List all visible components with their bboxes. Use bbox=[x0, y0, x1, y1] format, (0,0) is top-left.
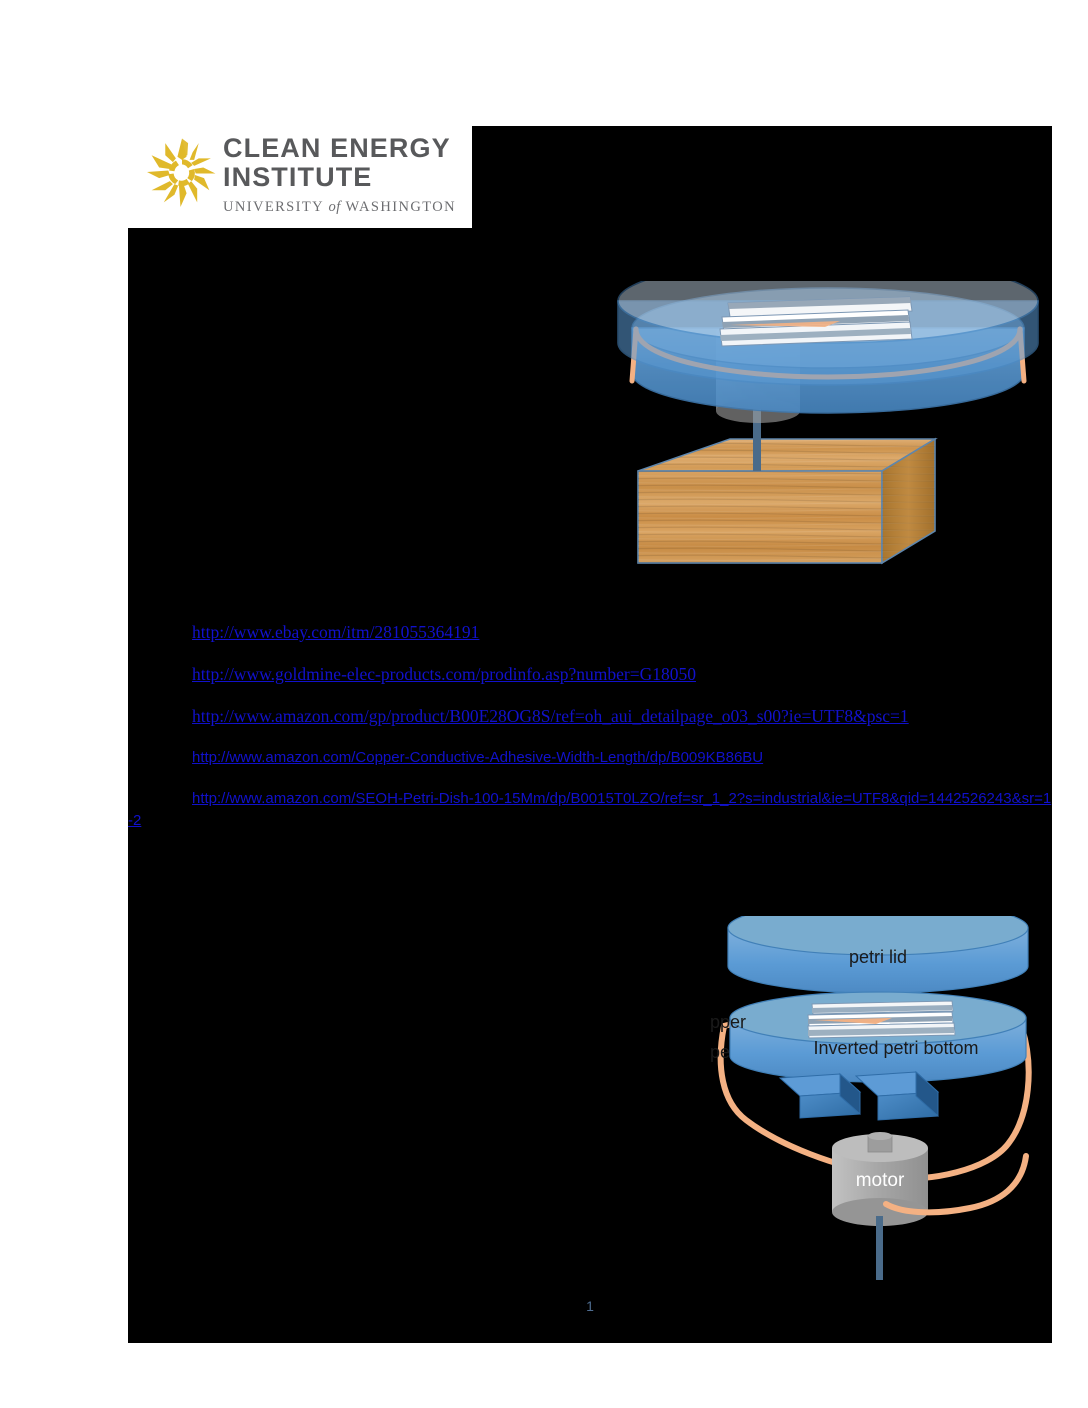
label-motor: motor bbox=[856, 1170, 905, 1191]
clean-energy-institute-logo: CLEAN ENERGY INSTITUTE UNIVERSITY of WAS… bbox=[128, 126, 472, 228]
label-inverted-petri-bottom: Inverted petri bottom bbox=[813, 1038, 978, 1058]
motor-lead-shaft bbox=[876, 1216, 883, 1280]
link-row: http://www.amazon.com/Copper-Conductive-… bbox=[128, 747, 1052, 769]
reference-link-list: http://www.ebay.com/itm/281055364191 htt… bbox=[128, 621, 1052, 851]
link-row: http://www.ebay.com/itm/281055364191 bbox=[128, 621, 1052, 644]
logo-line-1: CLEAN ENERGY bbox=[223, 134, 468, 163]
logo-sub-pre: UNIVERSITY bbox=[223, 199, 323, 215]
link-amazon-petri-dish[interactable]: http://www.amazon.com/SEOH-Petri-Dish-10… bbox=[128, 790, 1051, 829]
figure-exploded-diagram: petri lid bbox=[700, 916, 1052, 1326]
logo-line-2: INSTITUTE bbox=[223, 163, 468, 192]
document-viewport: CLEAN ENERGY INSTITUTE UNIVERSITY of WAS… bbox=[0, 0, 1088, 1408]
link-amazon-copper-tape[interactable]: http://www.amazon.com/Copper-Conductive-… bbox=[128, 749, 763, 766]
link-amazon-gp-product[interactable]: http://www.amazon.com/gp/product/B00E28O… bbox=[128, 706, 909, 726]
figure-petri-motor-assembly bbox=[610, 281, 1052, 601]
label-petri-lid: petri lid bbox=[849, 947, 907, 967]
logo-wordmark: CLEAN ENERGY INSTITUTE UNIVERSITY of WAS… bbox=[223, 134, 468, 216]
link-goldmine-product[interactable]: http://www.goldmine-elec-products.com/pr… bbox=[128, 664, 696, 684]
wood-base bbox=[638, 439, 935, 563]
document-page: CLEAN ENERGY INSTITUTE UNIVERSITY of WAS… bbox=[128, 126, 1052, 1343]
link-row: http://www.amazon.com/gp/product/B00E28O… bbox=[128, 705, 1052, 728]
link-ebay-item[interactable]: http://www.ebay.com/itm/281055364191 bbox=[128, 622, 479, 642]
logo-subtitle: UNIVERSITY of WASHINGTON bbox=[223, 199, 468, 216]
sun-burst-icon bbox=[142, 134, 222, 210]
striped-slide bbox=[720, 297, 912, 346]
logo-sub-post: WASHINGTON bbox=[346, 199, 456, 215]
logo-sub-italic: of bbox=[329, 199, 341, 215]
link-row: http://www.amazon.com/SEOH-Petri-Dish-10… bbox=[128, 788, 1052, 832]
link-row: http://www.goldmine-elec-products.com/pr… bbox=[128, 663, 1052, 686]
magnet-bar-left bbox=[780, 1074, 860, 1118]
label-copper-clipped-2: pe bbox=[710, 1042, 730, 1062]
striped-slide-lower bbox=[808, 1001, 955, 1038]
label-copper-clipped-1: pper bbox=[710, 1012, 746, 1032]
page-number: 1 bbox=[128, 1298, 1052, 1314]
